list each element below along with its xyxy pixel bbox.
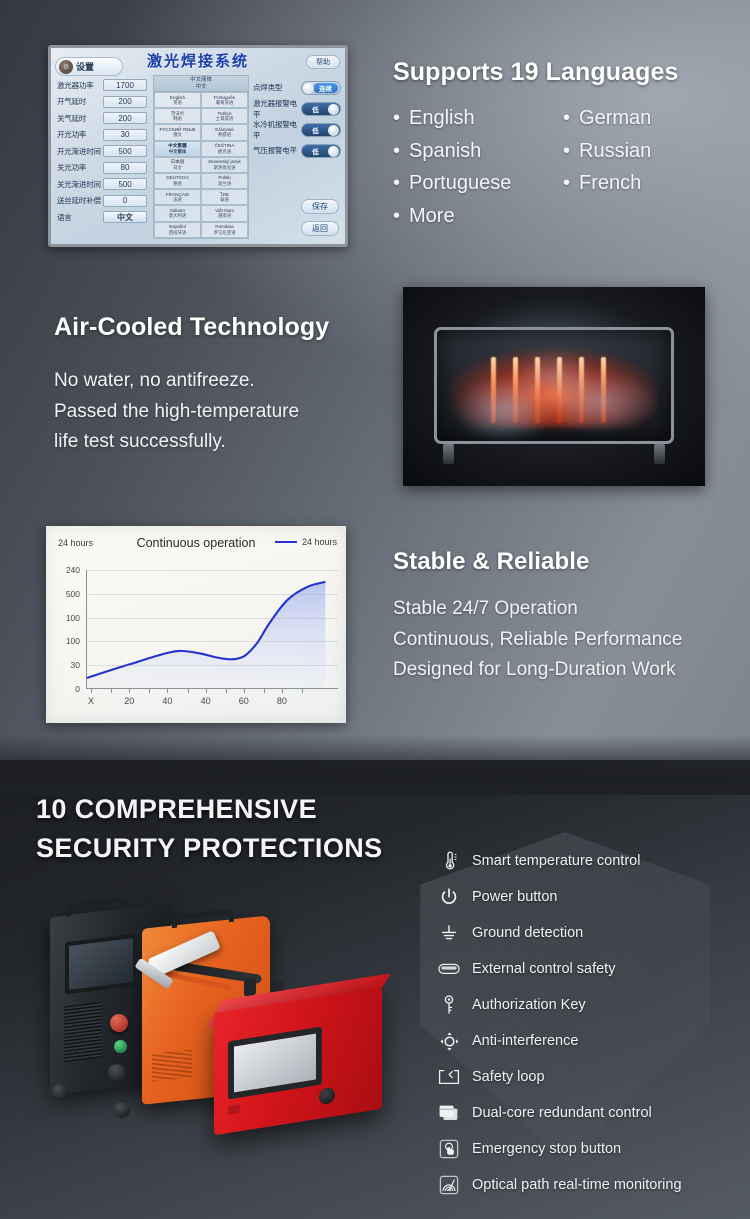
security-feature-item: Safety loop: [434, 1059, 734, 1095]
hmi-parameter-value[interactable]: 1700: [103, 79, 147, 91]
hmi-parameter-label: 送丝延时补偿: [57, 195, 103, 206]
security-heading-line2: SECURITY PROTECTIONS: [36, 829, 436, 868]
language-bullet: English: [393, 103, 563, 135]
language-bullet: Russian: [563, 136, 723, 168]
chart-x-tick: [302, 689, 303, 693]
chart-x-tick: [149, 689, 150, 693]
chart-gridline: [86, 618, 338, 619]
language-bullet: Portuguese: [393, 168, 563, 200]
stable-line: Continuous, Reliable Performance: [393, 625, 733, 656]
crosshair-icon: [434, 1028, 464, 1054]
stable-line: Designed for Long-Duration Work: [393, 655, 733, 686]
hmi-parameter-row: 关光渐进时间500: [57, 176, 153, 193]
language-option[interactable]: Ελληνικά希腊语: [201, 124, 248, 140]
hmi-toggle-row: 水冷机报警电平低: [253, 120, 341, 139]
security-feature-label: Anti-interference: [472, 1033, 578, 1049]
hmi-parameter-value[interactable]: 200: [103, 96, 147, 108]
hmi-parameter-value[interactable]: 80: [103, 162, 147, 174]
chart-x-tick: [91, 689, 92, 693]
language-option[interactable]: Việt Nam越南语: [201, 205, 248, 221]
hmi-parameter-label: 开光功率: [57, 129, 103, 140]
hmi-parameter-list: 激光器功率1700开气延时200关气延时200开光功率30开光渐进时间500关光…: [51, 74, 153, 244]
hmi-toggle-switch[interactable]: 低: [301, 102, 341, 116]
language-bullet: French: [563, 168, 723, 200]
hmi-parameter-row: 开光功率30: [57, 127, 153, 144]
hmi-parameter-label: 激光器功率: [57, 80, 103, 91]
languages-block: Supports 19 Languages English German Spa…: [393, 58, 723, 232]
hmi-parameter-row: 语言中文: [57, 209, 153, 226]
language-option[interactable]: English英语: [154, 92, 201, 108]
security-feature-item: Smart temperature control: [434, 843, 734, 879]
security-heading-line1: 10 COMPREHENSIVE: [36, 790, 436, 829]
security-feature-label: Ground detection: [472, 925, 583, 941]
chart-y-tick-label: 100: [66, 636, 80, 646]
language-bullet: Spanish: [393, 136, 563, 168]
chart-y-tick-label: 30: [71, 660, 80, 670]
thermometer-icon: [434, 848, 464, 874]
security-feature-item: Dual-core redundant control: [434, 1095, 734, 1131]
stable-line: Stable 24/7 Operation: [393, 594, 733, 625]
optical-path-icon: [434, 1172, 464, 1198]
hmi-parameter-value[interactable]: 500: [103, 178, 147, 190]
language-option[interactable]: Polski波兰语: [201, 173, 248, 189]
security-feature-item: Power button: [434, 879, 734, 915]
hmi-parameter-row: 送丝延时补偿0: [57, 193, 153, 210]
chart-x-tick-label: 60: [239, 696, 249, 706]
language-option[interactable]: Português葡萄牙语: [201, 92, 248, 108]
language-option[interactable]: România罗马尼亚语: [201, 222, 248, 238]
chart-x-tick: [111, 689, 112, 693]
legend-line-swatch: [275, 541, 297, 544]
chart-y-tick-label: 500: [66, 589, 80, 599]
chart-series-path: [86, 570, 338, 689]
language-option[interactable]: DEUTSCH德语: [154, 173, 201, 189]
security-feature-item: Optical path real-time monitoring: [434, 1167, 734, 1203]
chart-gridline: [86, 665, 338, 666]
chart-x-tick: [264, 689, 265, 693]
hmi-toggle-list: 点焊类型连续激光器报警电平低水冷机报警电平低气压报警电平低保存 返回: [249, 74, 345, 244]
hmi-help-button[interactable]: 帮助: [306, 55, 340, 69]
hmi-back-button[interactable]: 返回: [301, 221, 339, 236]
chart-y-tick-label: 240: [66, 565, 80, 575]
chart-x-tick: [206, 689, 207, 693]
hmi-save-button[interactable]: 保存: [301, 199, 339, 214]
language-option[interactable]: ไทย泰语: [201, 189, 248, 205]
hmi-title: 激光焊接系统: [51, 50, 345, 71]
security-feature-label: Dual-core redundant control: [472, 1105, 652, 1121]
security-feature-item: Authorization Key: [434, 987, 734, 1023]
language-option[interactable]: Italiano意大利语: [154, 205, 201, 221]
stable-heading: Stable & Reliable: [393, 548, 733, 576]
hand-press-icon: [434, 1136, 464, 1162]
language-option[interactable]: Türkçe土耳其语: [201, 108, 248, 124]
power-icon: [434, 884, 464, 910]
air-cooled-heading: Air-Cooled Technology: [54, 313, 394, 342]
air-cooled-line: life test successfully.: [54, 427, 394, 458]
stable-reliable-block: Stable & Reliable Stable 24/7 Operation …: [393, 548, 733, 686]
chart-x-tick-label: X: [88, 696, 94, 706]
security-feature-label: Optical path real-time monitoring: [472, 1177, 682, 1193]
key-icon: [434, 992, 464, 1018]
language-bullet: More: [393, 201, 563, 233]
ground-icon: [434, 920, 464, 946]
air-cooled-line: No water, no antifreeze.: [54, 366, 394, 397]
hmi-parameter-row: 开光渐进时间500: [57, 143, 153, 160]
language-option[interactable]: ČEŠTINA捷克语: [201, 141, 248, 157]
chart-legend: 24 hours: [275, 537, 337, 547]
chart-x-tick-label: 40: [162, 696, 172, 706]
hmi-parameter-row: 关气延时200: [57, 110, 153, 127]
hmi-toggle-row: 激光器报警电平低: [253, 99, 341, 118]
hmi-language-field[interactable]: 中文: [103, 211, 147, 223]
languages-heading: Supports 19 Languages: [393, 58, 723, 87]
hmi-parameter-label: 关光渐进时间: [57, 179, 103, 190]
dual-window-icon: [434, 1100, 464, 1126]
connector-icon: [434, 956, 464, 982]
chart-x-tick: [226, 689, 227, 693]
chart-x-tick: [244, 689, 245, 693]
chart-x-tick-label: 40: [201, 696, 211, 706]
languages-bullet-grid: English German Spanish Russian Portugues…: [393, 103, 723, 232]
welding-machines-photo: [22, 892, 422, 1122]
hmi-language-selector[interactable]: 中文简体 中文 English英语Português葡萄牙语한국어韩语Türkç…: [153, 74, 249, 244]
chart-gridline: [86, 570, 338, 571]
security-heading: 10 COMPREHENSIVE SECURITY PROTECTIONS: [36, 790, 436, 868]
hmi-parameter-value[interactable]: 200: [103, 112, 147, 124]
language-option[interactable]: Slovenský jazyk斯洛伐克语: [201, 157, 248, 173]
chart-x-tick-label: 80: [277, 696, 287, 706]
hmi-parameter-label: 关气延时: [57, 113, 103, 124]
hmi-toggle-switch[interactable]: 低: [301, 123, 341, 137]
security-feature-label: Emergency stop button: [472, 1141, 621, 1157]
chart-y-tick-label: 0: [75, 684, 80, 694]
hmi-header: ⚙ 设置 激光焊接系统 帮助: [51, 48, 345, 74]
hmi-parameter-label: 语言: [57, 212, 103, 223]
air-cooled-block: Air-Cooled Technology No water, no antif…: [54, 313, 394, 458]
hmi-parameter-label: 开气延时: [57, 96, 103, 107]
security-feature-item: External control safety: [434, 951, 734, 987]
hmi-parameter-value[interactable]: 0: [103, 195, 147, 207]
air-cooled-line: Passed the high-temperature: [54, 397, 394, 428]
language-option[interactable]: РУССКИЙ ЯЗЫК俄文: [154, 124, 201, 140]
security-feature-label: Power button: [472, 889, 557, 905]
language-bullet: German: [563, 103, 723, 135]
security-feature-label: Smart temperature control: [472, 853, 640, 869]
security-feature-label: External control safety: [472, 961, 615, 977]
hmi-parameter-label: 关光功率: [57, 162, 103, 173]
hmi-parameter-row: 激光器功率1700: [57, 77, 153, 94]
chart-y-tick-label: 100: [66, 613, 80, 623]
hmi-toggle-label: 激光器报警电平: [253, 98, 301, 120]
chart-x-tick: [188, 689, 189, 693]
hmi-toggle-label: 水冷机报警电平: [253, 119, 301, 141]
hmi-toggle-label: 气压报警电平: [253, 145, 301, 156]
chart-x-tick: [282, 689, 283, 693]
continuous-operation-chart: 24 hours Continuous operation 24 hours 2…: [46, 526, 346, 723]
hmi-toggle-row: 气压报警电平低: [253, 141, 341, 160]
hmi-parameter-label: 开光渐进时间: [57, 146, 103, 157]
chart-x-tick: [129, 689, 130, 693]
security-feature-list: Smart temperature controlPower buttonGro…: [434, 843, 734, 1203]
legend-label: 24 hours: [302, 537, 337, 547]
hmi-parameter-row: 开气延时200: [57, 94, 153, 111]
loop-icon: [434, 1064, 464, 1090]
language-option[interactable]: 中文繁體中文繁体: [154, 141, 201, 157]
security-feature-item: Anti-interference: [434, 1023, 734, 1059]
hmi-panel: ⚙ 设置 激光焊接系统 帮助 激光器功率1700开气延时200关气延时200开光…: [48, 45, 348, 247]
security-feature-item: Ground detection: [434, 915, 734, 951]
language-option[interactable]: Español西班牙语: [154, 222, 201, 238]
security-feature-item: Emergency stop button: [434, 1131, 734, 1167]
hmi-toggle-switch[interactable]: 连续: [301, 81, 341, 95]
language-option[interactable]: FRANÇAIS法语: [154, 189, 201, 205]
language-option[interactable]: 한국어韩语: [154, 108, 201, 124]
chart-x-tick: [167, 689, 168, 693]
hmi-toggle-row: 点焊类型连续: [253, 78, 341, 97]
hmi-toggle-switch[interactable]: 低: [301, 144, 341, 158]
thermal-test-photo: [403, 287, 705, 486]
security-feature-label: Safety loop: [472, 1069, 545, 1085]
chart-gridline: [86, 594, 338, 595]
chart-gridline: [86, 641, 338, 642]
hmi-parameter-value[interactable]: 500: [103, 145, 147, 157]
chart-plot-area: 240500100100300X2040406080: [86, 570, 338, 689]
language-header: 中文简体 中文: [154, 76, 248, 92]
chart-x-tick-label: 20: [124, 696, 134, 706]
hmi-toggle-label: 点焊类型: [253, 82, 301, 93]
security-feature-label: Authorization Key: [472, 997, 586, 1013]
hmi-parameter-value[interactable]: 30: [103, 129, 147, 141]
hmi-parameter-row: 关光功率80: [57, 160, 153, 177]
language-option[interactable]: 日本語日文: [154, 157, 201, 173]
